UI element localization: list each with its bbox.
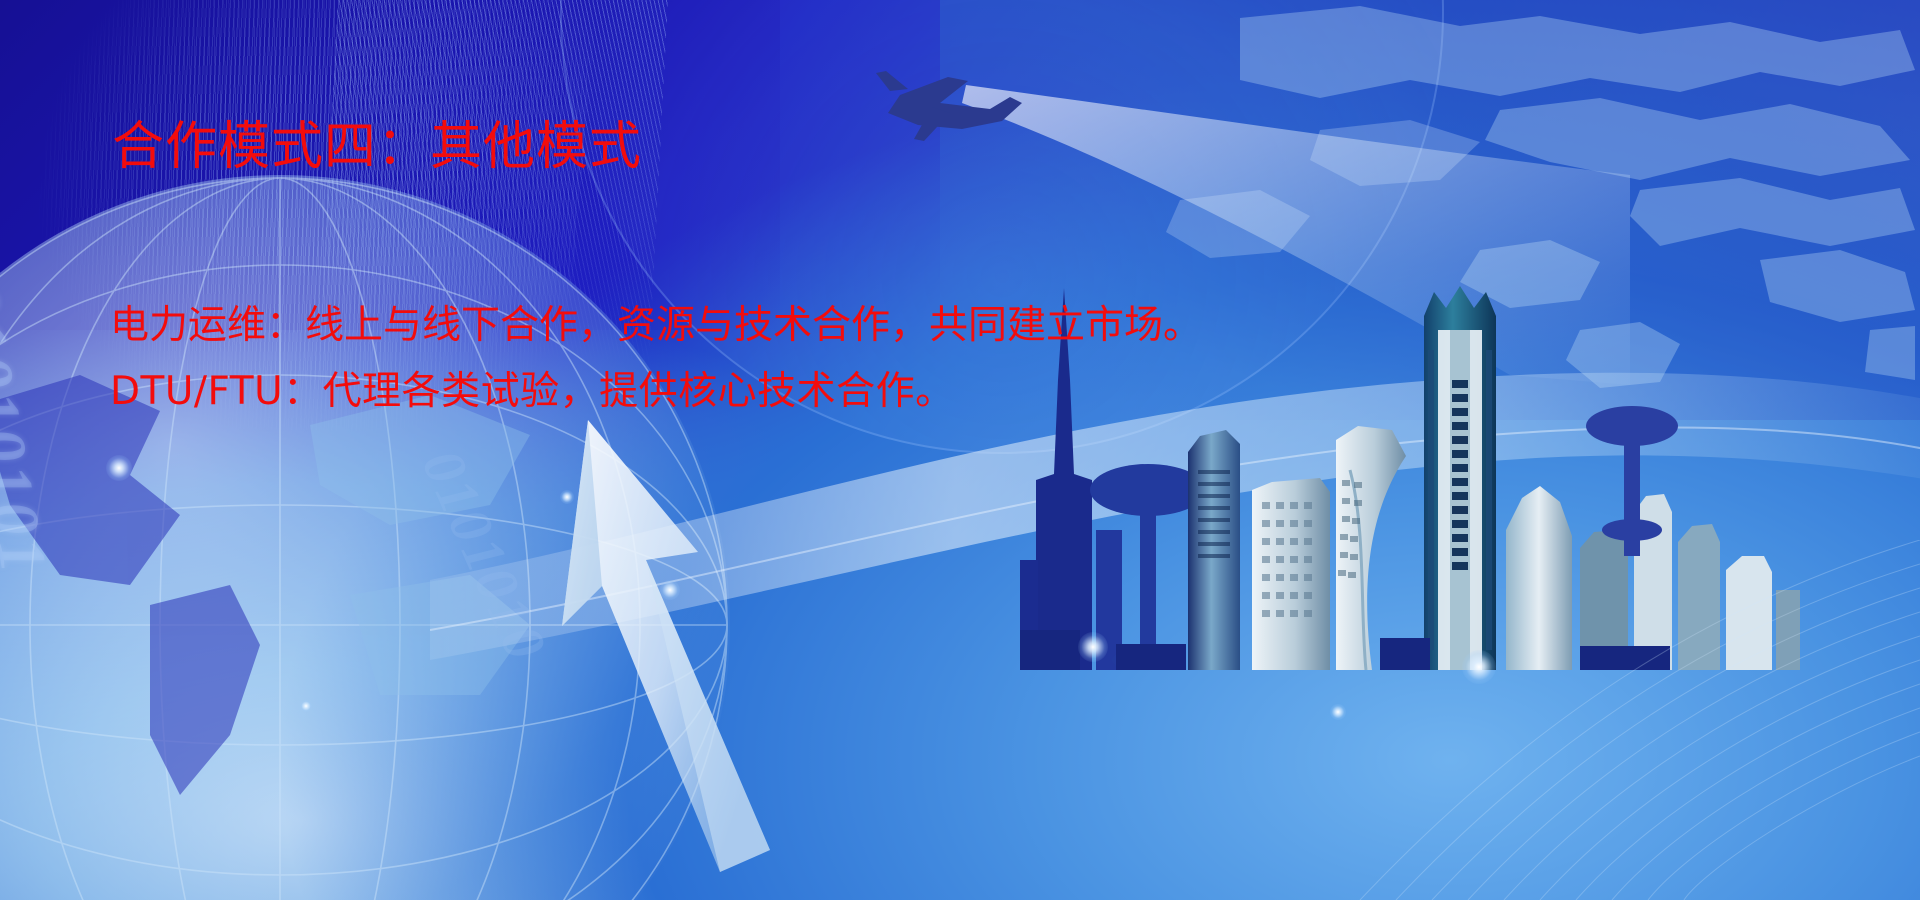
body-line-1: 电力运维：线上与线下合作，资源与技术合作，共同建立市场。	[110, 293, 1202, 359]
sparkle-dot	[1078, 632, 1108, 662]
line-fan-decoration	[1300, 540, 1920, 900]
sparkle-dot	[300, 700, 312, 712]
slide-body: 电力运维：线上与线下合作，资源与技术合作，共同建立市场。 DTU/FTU：代理各…	[110, 293, 1202, 425]
sparkle-dot	[560, 490, 574, 504]
slide-title: 合作模式四：其他模式	[112, 115, 642, 179]
sparkle-dot	[106, 455, 132, 481]
body-line-2: DTU/FTU：代理各类试验，提供核心技术合作。	[110, 359, 1202, 425]
presentation-slide: 01010101010101 0101010 合作模式四：其他模式 电	[0, 0, 1920, 900]
sparkle-dot	[660, 580, 680, 600]
